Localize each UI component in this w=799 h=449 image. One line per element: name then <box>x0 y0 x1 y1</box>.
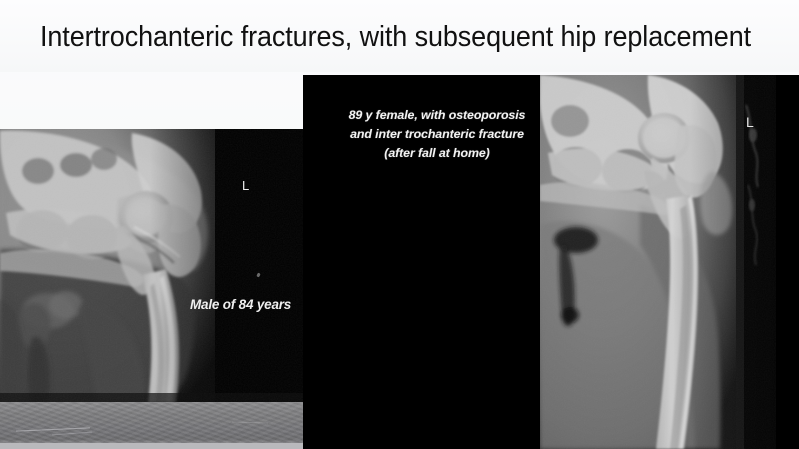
page-title: Intertrochanteric fractures, with subseq… <box>40 19 715 55</box>
gray-strip-texture <box>0 402 303 445</box>
caption-line-2: and inter trochanteric fracture <box>327 125 547 144</box>
caption-line-3: (after fall at home) <box>327 144 547 163</box>
slide-canvas: Intertrochanteric fractures, with subseq… <box>0 0 799 449</box>
left-radiograph-image <box>0 129 303 403</box>
right-radiograph-image <box>540 75 776 449</box>
left-radiograph-annotation: Male of 84 years <box>190 297 291 312</box>
bottom-gray-strip-edge <box>0 443 303 449</box>
bottom-gray-strip <box>0 402 303 445</box>
title-bar: Intertrochanteric fractures, with subseq… <box>0 0 799 72</box>
laterality-marker-left-image: L <box>242 178 250 193</box>
laterality-marker-right-image: L <box>746 114 754 130</box>
middle-panel-caption: 89 y female, with osteoporosis and inter… <box>327 106 547 163</box>
caption-line-1: 89 y female, with osteoporosis <box>327 106 547 125</box>
